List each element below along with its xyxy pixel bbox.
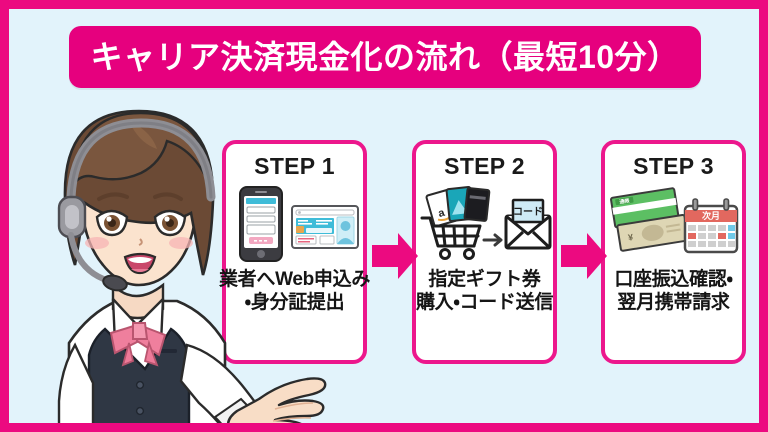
step-3-caption: 口座振込確認・ 翌月携帯請求 [614,268,732,314]
envelope-code-label: コード [513,206,543,218]
step-2-caption-line2: 購入・コード送信 [416,291,553,314]
step-1-caption-line2: ・身分証提出 [219,291,370,314]
page-title-banner: キャリア決済現金化の流れ（最短10分） [69,26,701,88]
calendar-month-label: 次月 [701,210,719,221]
right-arrow-icon [372,231,418,281]
arrow-step2-to-step3 [561,231,607,281]
step-2-illustration: a [418,184,552,264]
step-2-title: STEP 2 [444,155,525,178]
step-3-caption-line2: 翌月携帯請求 [614,291,732,314]
step-2-caption-line1: 指定ギフト券 [416,268,553,291]
step-1-illustration [228,184,362,264]
step-1-title: STEP 1 [254,155,335,178]
smartphone-and-id-card-icon [228,184,362,264]
step-1-caption: 業者へWeb申込み ・身分証提出 [219,268,370,314]
step-3-caption-line1: 口座振込確認・ [614,268,732,291]
infographic-canvas: キャリア決済現金化の流れ（最短10分） STEP 1 [0,0,768,432]
step-3-illustration: 通帳 ¥ 次月 [607,184,741,264]
step-1-caption-line1: 業者へWeb申込み [219,268,370,291]
right-arrow-icon [561,231,607,281]
page-title: キャリア決済現金化の流れ（最短10分） [90,41,679,73]
cart-giftcards-envelope-icon: a [418,184,552,264]
step-card-1: STEP 1 [222,140,367,364]
step-card-3: STEP 3 通帳 ¥ [601,140,746,364]
canvas-background: キャリア決済現金化の流れ（最短10分） STEP 1 [9,9,759,423]
bankbook-cash-calendar-icon: 通帳 ¥ 次月 [607,184,741,264]
arrow-step1-to-step2 [372,231,418,281]
step-3-title: STEP 3 [633,155,714,178]
step-card-2: STEP 2 a [412,140,557,364]
step-2-caption: 指定ギフト券 購入・コード送信 [416,268,553,314]
